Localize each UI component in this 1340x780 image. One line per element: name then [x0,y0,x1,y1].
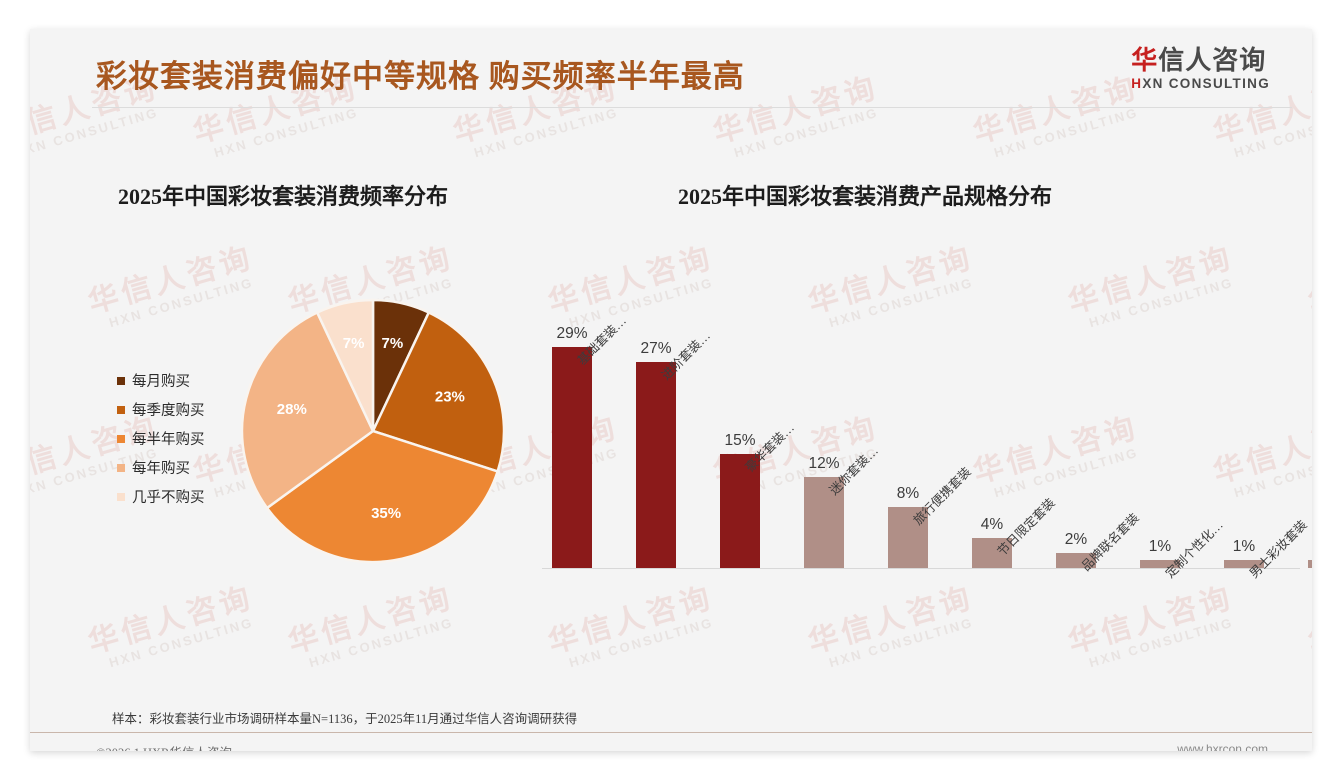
pie-legend-item[interactable]: 几乎不购买 [117,482,205,511]
pie-legend-item[interactable]: 每年购买 [117,453,205,482]
pie-slice-label: 23% [435,389,465,406]
logo-cn-first-char: 华 [1131,46,1158,75]
bar-rect[interactable] [552,347,592,568]
slide-footer: ©2026.1 HXR华信人咨询 www.hxrcon.com [30,733,1312,751]
sample-footnote: 样本：彩妆套装行业市场调研样本量N=1136，于2025年11月通过华信人咨询调… [112,708,577,727]
pie-legend-item[interactable]: 每半年购买 [117,424,205,453]
watermark-english: HXN CONSULTING [1219,102,1312,163]
pie-slice-label: 7% [382,335,404,352]
pie-legend-item[interactable]: 每月购买 [117,366,205,395]
logo-english-text: HXN CONSULTING [1131,76,1270,91]
pie-svg: 7%23%35%28%7% [238,296,508,566]
legend-color-swatch [117,406,125,414]
watermark-english: HXN CONSULTING [719,102,887,163]
bar-column: 15%豪华套装… [720,454,760,568]
bar-plot-area: 29%基础套装…27%进阶套装…15%豪华套装…12%迷你套装…8%旅行便携套装… [530,291,1300,569]
logo-cn-rest: 信人咨询 [1158,46,1266,75]
bar-column: 29%基础套装… [552,347,592,568]
bar-column: 2%品牌联名套装 [1056,553,1096,568]
legend-color-swatch [117,464,125,472]
bar-column: 12%迷你套装… [804,477,844,569]
bar-chart-title: 2025年中国彩妆套装消费产品规格分布 [678,179,1052,211]
pie-chart-title: 2025年中国彩妆套装消费频率分布 [118,179,448,211]
frequency-pie-chart: 每月购买每季度购买每半年购买每年购买几乎不购买 7%23%35%28%7% [90,284,530,614]
watermark-tile: 华信人咨询HXN CONSULTING [1305,242,1312,334]
watermark-chinese: 华信人咨询 [1305,582,1312,659]
copyright-text: ©2026.1 HXR华信人咨询 [96,742,232,751]
slide-header: 彩妆套装消费偏好中等规格 购买频率半年最高 华信人咨询 HXN CONSULTI… [30,29,1312,107]
pie-slice-label: 7% [343,335,365,352]
legend-item-label: 每半年购买 [132,428,205,449]
bar-column: 1%专业彩妆师… [1308,560,1312,568]
legend-color-swatch [117,435,125,443]
company-logo: 华信人咨询 HXN CONSULTING [1131,47,1270,91]
legend-item-label: 每季度购买 [132,399,205,420]
page-title: 彩妆套装消费偏好中等规格 购买频率半年最高 [96,51,745,96]
website-link[interactable]: www.hxrcon.com [1177,742,1268,751]
header-divider [92,107,1292,108]
bar-column: 1%定制个性化… [1140,560,1180,568]
legend-item-label: 每月购买 [132,370,190,391]
slide-canvas: 华信人咨询HXN CONSULTING华信人咨询HXN CONSULTING华信… [30,29,1312,751]
pie-legend-item[interactable]: 每季度购买 [117,395,205,424]
bar-column: 27%进阶套装… [636,362,676,568]
watermark-english: HXN CONSULTING [459,102,627,163]
logo-en-first-char: H [1131,76,1142,91]
bar-rect[interactable] [1308,560,1312,568]
watermark-english: HXN CONSULTING [979,102,1147,163]
watermark-tile: 华信人咨询HXN CONSULTING [1305,582,1312,674]
bar-column: 8%旅行便携套装 [888,507,928,568]
pie-slice-label: 28% [277,401,307,418]
legend-item-label: 每年购买 [132,457,190,478]
legend-item-label: 几乎不购买 [132,486,205,507]
watermark-english: HXN CONSULTING [199,102,367,163]
bar-rect[interactable] [636,362,676,568]
bar-value-label: 1% [1295,538,1312,556]
bar-column: 4%节日限定套装 [972,538,1012,569]
pie-slice-label: 35% [371,505,401,522]
specification-bar-chart: 29%基础套装…27%进阶套装…15%豪华套装…12%迷你套装…8%旅行便携套装… [490,291,1300,661]
watermark-english: HXN CONSULTING [94,612,262,673]
pie-legend: 每月购买每季度购买每半年购买每年购买几乎不购买 [117,366,205,511]
bar-column: 1%男士彩妆套装 [1224,560,1264,568]
logo-chinese-text: 华信人咨询 [1131,47,1270,74]
watermark-english: HXN CONSULTING [294,612,462,673]
legend-color-swatch [117,493,125,501]
watermark-english: HXN CONSULTING [30,102,166,163]
logo-en-rest: XN CONSULTING [1142,76,1270,91]
watermark-chinese: 华信人咨询 [1305,242,1312,319]
legend-color-swatch [117,377,125,385]
